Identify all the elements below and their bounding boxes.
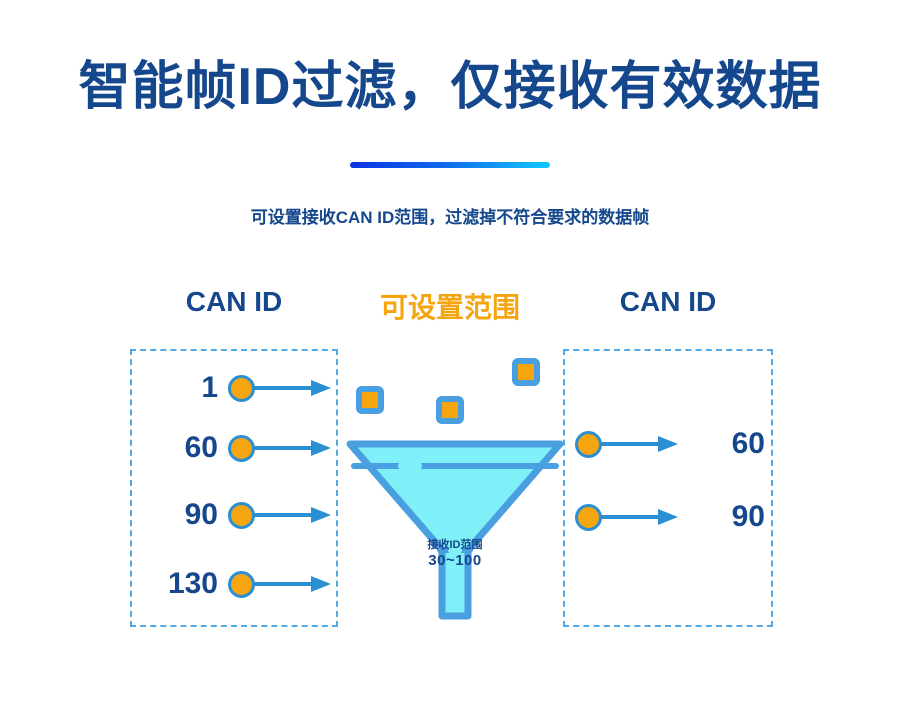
input-id-label: 90 — [140, 500, 228, 530]
title-gradient-rule — [350, 162, 550, 168]
heading-input-can-id: CAN ID — [130, 286, 338, 318]
frame-dot-icon — [228, 571, 255, 598]
rejected-frame-square-icon — [436, 396, 464, 424]
output-id-panel — [563, 349, 773, 627]
frame-dot-icon — [575, 431, 602, 458]
output-id-row: 90 — [575, 497, 765, 537]
filter-funnel-group: 接收ID范围 30~100 — [340, 350, 570, 630]
input-id-row: 130 — [140, 564, 335, 604]
input-id-row: 90 — [140, 495, 335, 535]
page-subtitle: 可设置接收CAN ID范围，过滤掉不符合要求的数据帧 — [0, 203, 900, 228]
input-id-row: 1 — [140, 368, 335, 408]
heading-output-can-id: CAN ID — [563, 286, 773, 318]
arrow-right-icon — [253, 378, 333, 398]
input-id-label: 130 — [140, 569, 228, 599]
frame-dot-icon — [575, 504, 602, 531]
output-id-label: 90 — [680, 502, 765, 532]
page-title: 智能帧ID过滤，仅接收有效数据 — [0, 58, 900, 118]
funnel-icon — [340, 430, 570, 630]
input-id-label: 60 — [140, 433, 228, 463]
frame-dot-icon — [228, 502, 255, 529]
arrow-right-icon — [253, 574, 333, 594]
heading-configurable-range: 可设置范围 — [346, 286, 554, 326]
arrow-right-icon — [253, 438, 333, 458]
input-id-label: 1 — [140, 373, 228, 403]
frame-dot-icon — [228, 435, 255, 462]
arrow-right-icon — [253, 505, 333, 525]
rejected-frame-square-icon — [512, 358, 540, 386]
frame-dot-icon — [228, 375, 255, 402]
output-id-label: 60 — [680, 429, 765, 459]
rejected-frame-square-icon — [356, 386, 384, 414]
output-id-row: 60 — [575, 424, 765, 464]
input-id-row: 60 — [140, 428, 335, 468]
arrow-right-icon — [600, 507, 680, 527]
arrow-right-icon — [600, 434, 680, 454]
